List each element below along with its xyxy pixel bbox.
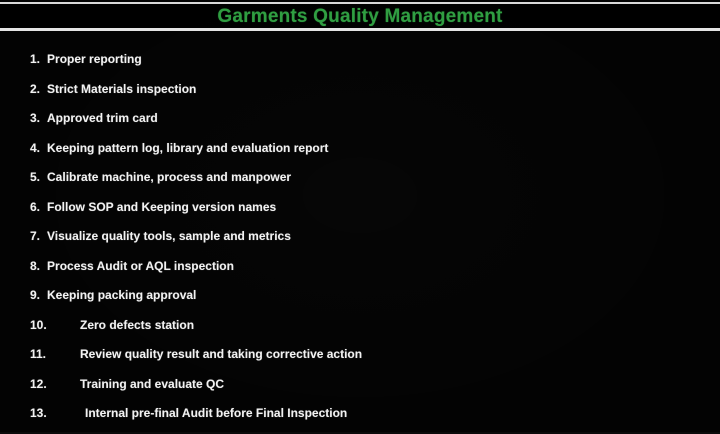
list-item-label: Strict Materials inspection [47, 75, 196, 105]
list-item-number: 9. [30, 281, 40, 311]
list-item-number: 1. [30, 45, 40, 75]
quality-points-list: 1.Proper reporting2.Strict Materials ins… [0, 45, 720, 429]
list-item-label: Review quality result and taking correct… [80, 340, 362, 370]
page-title: Garments Quality Management [217, 7, 502, 26]
list-item: 1.Proper reporting [0, 45, 720, 75]
list-item-label: Process Audit or AQL inspection [47, 252, 234, 282]
list-item-label: Training and evaluate QC [80, 370, 224, 400]
list-item: 8.Process Audit or AQL inspection [0, 252, 720, 282]
list-item-label: Proper reporting [47, 45, 142, 75]
list-item-number: 7. [30, 222, 40, 252]
list-item-number: 8. [30, 252, 40, 282]
list-item: 4.Keeping pattern log, library and evalu… [0, 134, 720, 164]
list-item-label: Zero defects station [80, 311, 194, 341]
list-item-label: Approved trim card [47, 104, 158, 134]
title-banner: Garments Quality Management [0, 2, 720, 31]
list-item-number: 13. [30, 399, 85, 429]
list-item-label: Keeping pattern log, library and evaluat… [47, 134, 328, 164]
list-item-number: 11. [30, 340, 80, 370]
slide-canvas: Garments Quality Management 1.Proper rep… [0, 0, 720, 434]
list-item: 7.Visualize quality tools, sample and me… [0, 222, 720, 252]
list-item-number: 3. [30, 104, 40, 134]
list-item: 10.Zero defects station [0, 311, 720, 341]
list-item: 13.Internal pre-final Audit before Final… [0, 399, 720, 429]
list-item-label: Internal pre-final Audit before Final In… [85, 399, 347, 429]
list-item: 2.Strict Materials inspection [0, 75, 720, 105]
list-item-label: Visualize quality tools, sample and metr… [47, 222, 291, 252]
list-item-label: Keeping packing approval [47, 281, 196, 311]
list-item-number: 5. [30, 163, 40, 193]
list-item: 3.Approved trim card [0, 104, 720, 134]
list-item-number: 6. [30, 193, 40, 223]
list-item: 12.Training and evaluate QC [0, 370, 720, 400]
list-item-number: 10. [30, 311, 80, 341]
list-item-number: 2. [30, 75, 40, 105]
list-item-number: 12. [30, 370, 80, 400]
list-item: 11.Review quality result and taking corr… [0, 340, 720, 370]
list-item-label: Calibrate machine, process and manpower [47, 163, 291, 193]
list-item-number: 4. [30, 134, 40, 164]
list-item: 6.Follow SOP and Keeping version names [0, 193, 720, 223]
list-item-label: Follow SOP and Keeping version names [47, 193, 276, 223]
list-item: 5.Calibrate machine, process and manpowe… [0, 163, 720, 193]
list-item: 9.Keeping packing approval [0, 281, 720, 311]
